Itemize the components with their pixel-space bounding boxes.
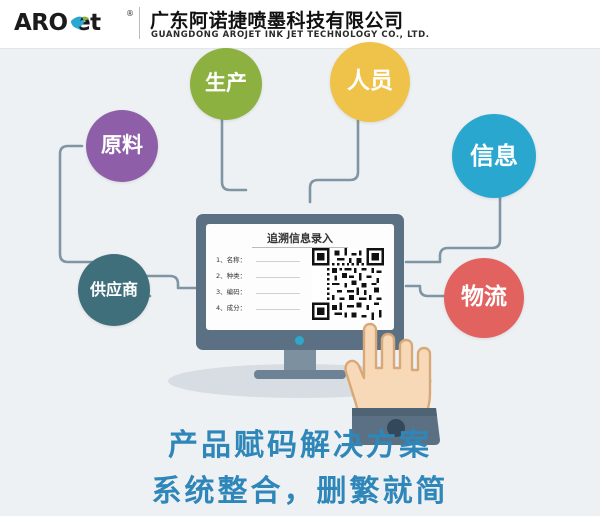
screen-field-2: 2、种类：: [216, 270, 246, 280]
bubble-personnel[interactable]: 人员: [330, 42, 410, 122]
screen-field-line-1: [256, 261, 300, 262]
monitor-stand-base: [254, 370, 346, 379]
screen-field-4: 4、成分：: [216, 302, 246, 312]
bubble-supplier[interactable]: 供应商: [78, 254, 150, 326]
screen-field-line-4: [256, 309, 300, 310]
tagline-line-2: 系统整合，删繁就简: [0, 466, 600, 510]
bubble-label-information: 信息: [470, 143, 518, 170]
monitor-power-led: [295, 336, 304, 345]
screen-field-line-2: [256, 277, 300, 278]
bubble-label-personnel: 人员: [347, 69, 393, 95]
monitor-stand-neck: [284, 350, 316, 372]
bubble-label-production: 生产: [205, 72, 247, 96]
poster-canvas: ARO et ® 广东阿诺捷喷墨科技有限公司 GUANGDONG AROJET …: [0, 0, 600, 516]
screen-field-3: 3、编码：: [216, 286, 246, 296]
screen-field-line-3: [256, 293, 300, 294]
bubble-production[interactable]: 生产: [190, 48, 262, 120]
tagline-line-1: 产品赋码解决方案: [0, 420, 600, 464]
bubble-information[interactable]: 信息: [452, 114, 536, 198]
bubble-raw-material[interactable]: 原料: [86, 110, 158, 182]
screen-field-1: 1、名称：: [216, 254, 246, 264]
screen-title: 追溯信息录入: [206, 230, 394, 246]
bubble-label-raw-material: 原料: [101, 134, 143, 158]
bubble-label-supplier: 供应商: [90, 281, 138, 299]
